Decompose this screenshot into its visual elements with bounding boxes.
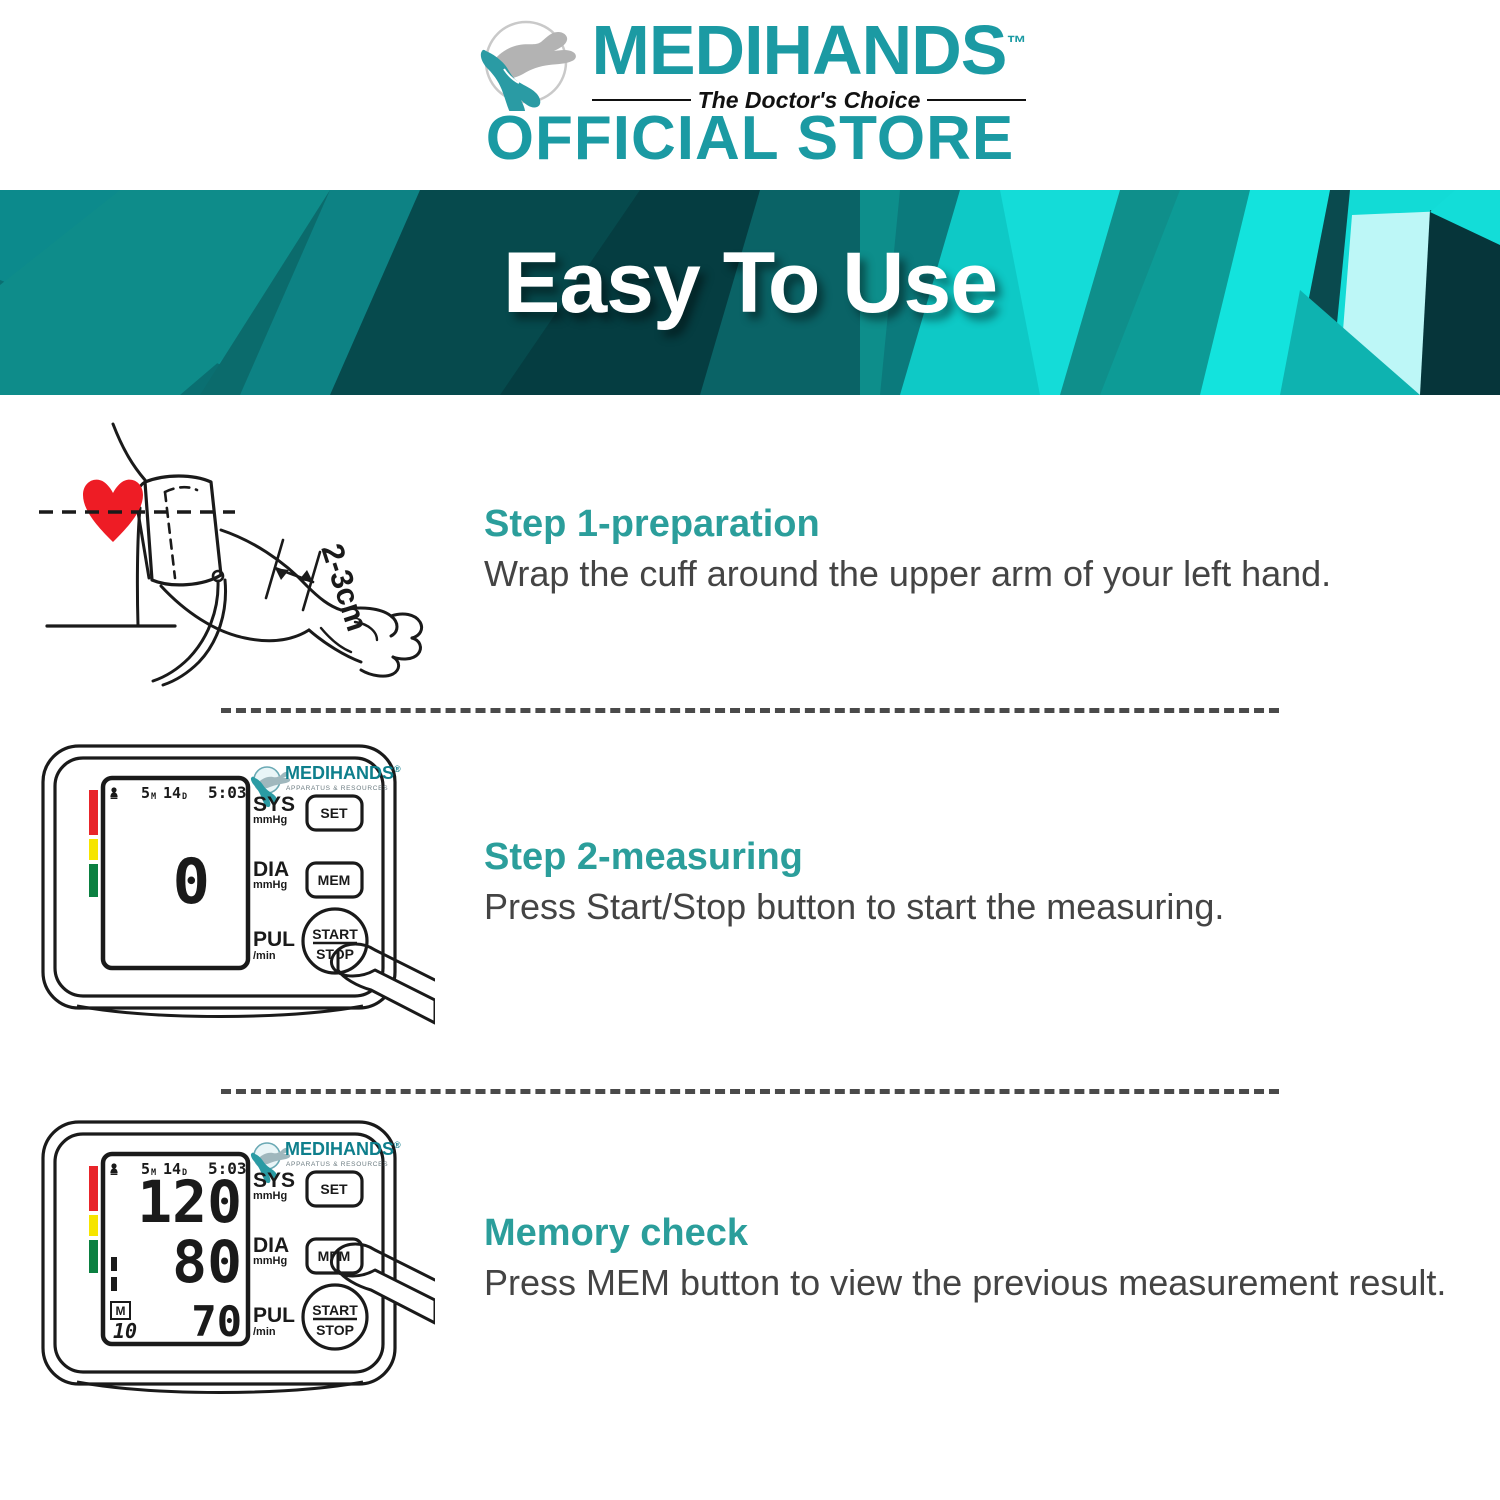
indicator-bar-green — [89, 864, 98, 897]
indicator-bar-green — [89, 1240, 98, 1273]
step-1-row: 2-3cm Step 1-preparation Wrap the cuff a… — [0, 400, 1500, 700]
label-pul: PUL — [253, 1304, 295, 1327]
device-sub-brand: APPARATUS & RESOURCES — [286, 1161, 388, 1168]
lcd-month-unit: M — [151, 792, 156, 802]
label-pul: PUL — [253, 928, 295, 951]
step-2-copy: Step 2-measuring Press Start/Stop button… — [470, 836, 1500, 930]
device-buttons: SET MEM START STOP — [303, 796, 367, 973]
device-sub-brand: APPARATUS & RESOURCES — [286, 785, 388, 792]
brand-lockup: MEDIHANDS™ The Doctor's Choice — [0, 18, 1500, 110]
brand-name: MEDIHANDS™ — [592, 15, 1027, 85]
indicator-bar-red — [89, 790, 98, 835]
page-header: MEDIHANDS™ The Doctor's Choice OFFICIAL … — [0, 0, 1500, 190]
step-1-description: Wrap the cuff around the upper arm of yo… — [484, 551, 1460, 597]
banner: Easy To Use — [0, 190, 1500, 395]
device-brand-name: MEDIHANDS® — [285, 763, 401, 783]
start-stop-label-line2: STOP — [316, 1322, 354, 1338]
step-2-title: Step 2-measuring — [484, 836, 1460, 880]
label-sys: SYS — [253, 1169, 295, 1192]
mem-button-label: MEM — [318, 872, 351, 888]
lcd-indicator-bars — [89, 1166, 98, 1273]
label-pul-unit: /min — [253, 950, 276, 962]
lcd-indicator-bars — [89, 790, 98, 897]
label-pul-unit: /min — [253, 1326, 276, 1338]
step-1-copy: Step 1-preparation Wrap the cuff around … — [470, 503, 1500, 597]
step-3-row: MEDIHANDS® APPARATUS & RESOURCES 5 M 14 … — [0, 1094, 1500, 1424]
lcd-sys-value: 120 — [137, 1168, 242, 1236]
steps-section: 2-3cm Step 1-preparation Wrap the cuff a… — [0, 400, 1500, 1424]
arm-with-cuff-illustration: 2-3cm — [25, 400, 445, 700]
lcd-pul-value: 70 — [191, 1297, 242, 1346]
label-sys-unit: mmHg — [253, 814, 287, 826]
lcd-memory-letter: M — [116, 1304, 126, 1318]
official-store-heading: OFFICIAL STORE — [0, 108, 1500, 170]
indicator-bar-yellow — [89, 1215, 98, 1236]
dimension-label: 2-3cm — [314, 539, 375, 635]
step-1-figure: 2-3cm — [0, 400, 470, 700]
label-dia-unit: mmHg — [253, 1255, 287, 1267]
lcd-time: 5:03 — [208, 783, 247, 802]
step-2-description: Press Start/Stop button to start the mea… — [484, 884, 1460, 930]
step-3-description: Press MEM button to view the previous me… — [484, 1260, 1460, 1306]
tagline-rule-left — [592, 99, 691, 101]
step-2-figure: MEDIHANDS® APPARATUS & RESOURCES 5 M 14 … — [0, 738, 470, 1028]
tagline-rule-right — [927, 99, 1026, 101]
dimension-arrow-up — [275, 568, 289, 580]
label-dia: DIA — [253, 858, 289, 881]
label-dia: DIA — [253, 1234, 289, 1257]
label-sys-unit: mmHg — [253, 1190, 287, 1202]
lcd-day: 14 — [163, 784, 181, 802]
step-3-figure: MEDIHANDS® APPARATUS & RESOURCES 5 M 14 … — [0, 1114, 470, 1404]
lcd-dia-value: 0 — [173, 845, 210, 918]
device-brand-name: MEDIHANDS® — [285, 1139, 401, 1159]
bp-monitor-illustration-step2: MEDIHANDS® APPARATUS & RESOURCES 5 M 14 … — [35, 738, 435, 1028]
lcd-month: 5 — [141, 784, 150, 802]
trademark-mark: ™ — [1006, 32, 1026, 54]
lcd-dia-value: 80 — [172, 1228, 242, 1296]
bp-monitor-illustration-step3: MEDIHANDS® APPARATUS & RESOURCES 5 M 14 … — [35, 1114, 435, 1404]
two-hands-circle-icon — [474, 17, 578, 111]
set-button-label: SET — [320, 805, 348, 821]
banner-title: Easy To Use — [0, 240, 1500, 326]
lcd-memory-count: 10 — [113, 1319, 137, 1343]
indicator-bar-red — [89, 1166, 98, 1211]
lcd-day-unit: D — [182, 792, 187, 802]
label-sys: SYS — [253, 793, 295, 816]
step-3-title: Memory check — [484, 1212, 1460, 1256]
start-stop-label-line1: START — [312, 926, 358, 942]
step-3-copy: Memory check Press MEM button to view th… — [470, 1212, 1500, 1306]
label-dia-unit: mmHg — [253, 879, 287, 891]
step-1-title: Step 1-preparation — [484, 503, 1460, 547]
step-2-row: MEDIHANDS® APPARATUS & RESOURCES 5 M 14 … — [0, 713, 1500, 1053]
indicator-bar-yellow — [89, 839, 98, 860]
set-button-label: SET — [320, 1181, 348, 1197]
start-stop-label-line1: START — [312, 1302, 358, 1318]
dimension-arrow-down — [299, 570, 313, 582]
